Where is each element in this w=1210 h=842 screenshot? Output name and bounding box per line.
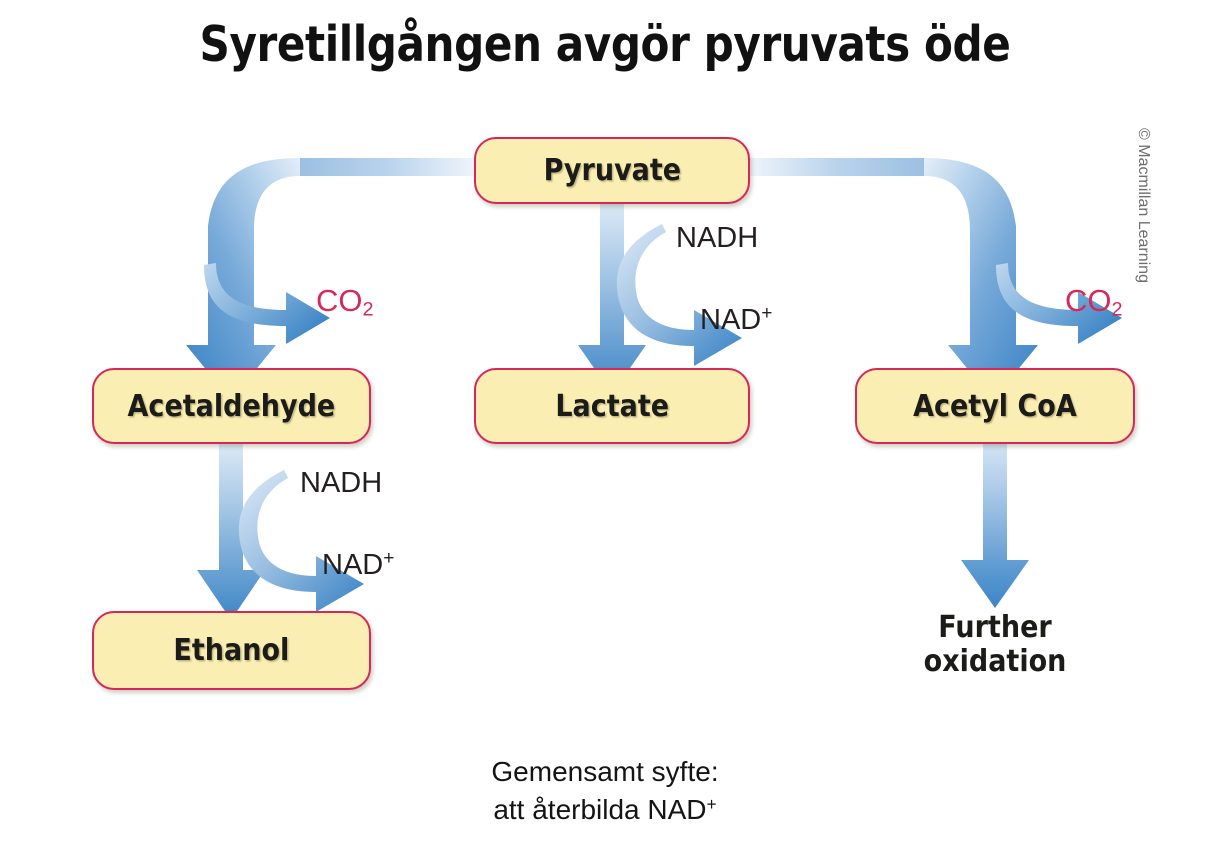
node-acetaldehyde[interactable]: Acetaldehyde <box>92 368 371 444</box>
node-pyruvate[interactable]: Pyruvate <box>474 137 750 204</box>
node-lactate-label: Lactate <box>555 389 669 424</box>
caption: Gemensamt syfte: att återbilda NAD+ <box>0 753 1210 828</box>
label-co2-right: CO2 <box>1065 283 1123 321</box>
label-co2-left-text: CO <box>316 283 363 318</box>
label-nad-plus-ethanol-superscript: + <box>383 548 394 569</box>
arrow-pyruvate-to-acetaldehyde <box>186 158 474 400</box>
label-co2-right-text: CO <box>1065 283 1112 318</box>
label-nad-plus-lactate-text: NAD <box>700 304 761 336</box>
node-lactate[interactable]: Lactate <box>474 368 750 444</box>
label-nadh-lactate: NADH <box>676 222 758 255</box>
label-co2-left-subscript: 2 <box>363 298 374 320</box>
caption-line-2: att återbilda NAD+ <box>0 791 1210 829</box>
node-ethanol-label: Ethanol <box>174 633 290 668</box>
node-acetyl-coa[interactable]: Acetyl CoA <box>855 368 1135 444</box>
copyright-notice: © Macmillan Learning <box>1134 128 1152 283</box>
diagram-canvas: Syretillgången avgör pyruvats öde <box>0 0 1210 842</box>
arrow-pyruvate-to-acetylcoa <box>750 158 1122 400</box>
node-further-oxidation: Further oxidation <box>869 611 1121 678</box>
label-nad-plus-ethanol-text: NAD <box>322 549 383 581</box>
node-acetaldehyde-label: Acetaldehyde <box>128 389 336 424</box>
caption-line-1: Gemensamt syfte: <box>0 753 1210 791</box>
node-ethanol[interactable]: Ethanol <box>92 611 371 690</box>
label-nad-plus-lactate: NAD+ <box>700 303 772 337</box>
node-pyruvate-label: Pyruvate <box>543 153 680 188</box>
arrow-acetylcoa-to-further-oxidation <box>961 444 1029 608</box>
label-nad-plus-lactate-superscript: + <box>761 303 772 324</box>
caption-line-2-text: att återbilda NAD <box>493 794 706 825</box>
label-co2-left: CO2 <box>316 283 374 321</box>
node-acetyl-coa-label: Acetyl CoA <box>913 389 1077 424</box>
label-nadh-ethanol: NADH <box>300 467 382 500</box>
label-co2-right-subscript: 2 <box>1112 298 1123 320</box>
caption-line-2-superscript: + <box>707 794 717 814</box>
label-nad-plus-ethanol: NAD+ <box>322 548 394 582</box>
